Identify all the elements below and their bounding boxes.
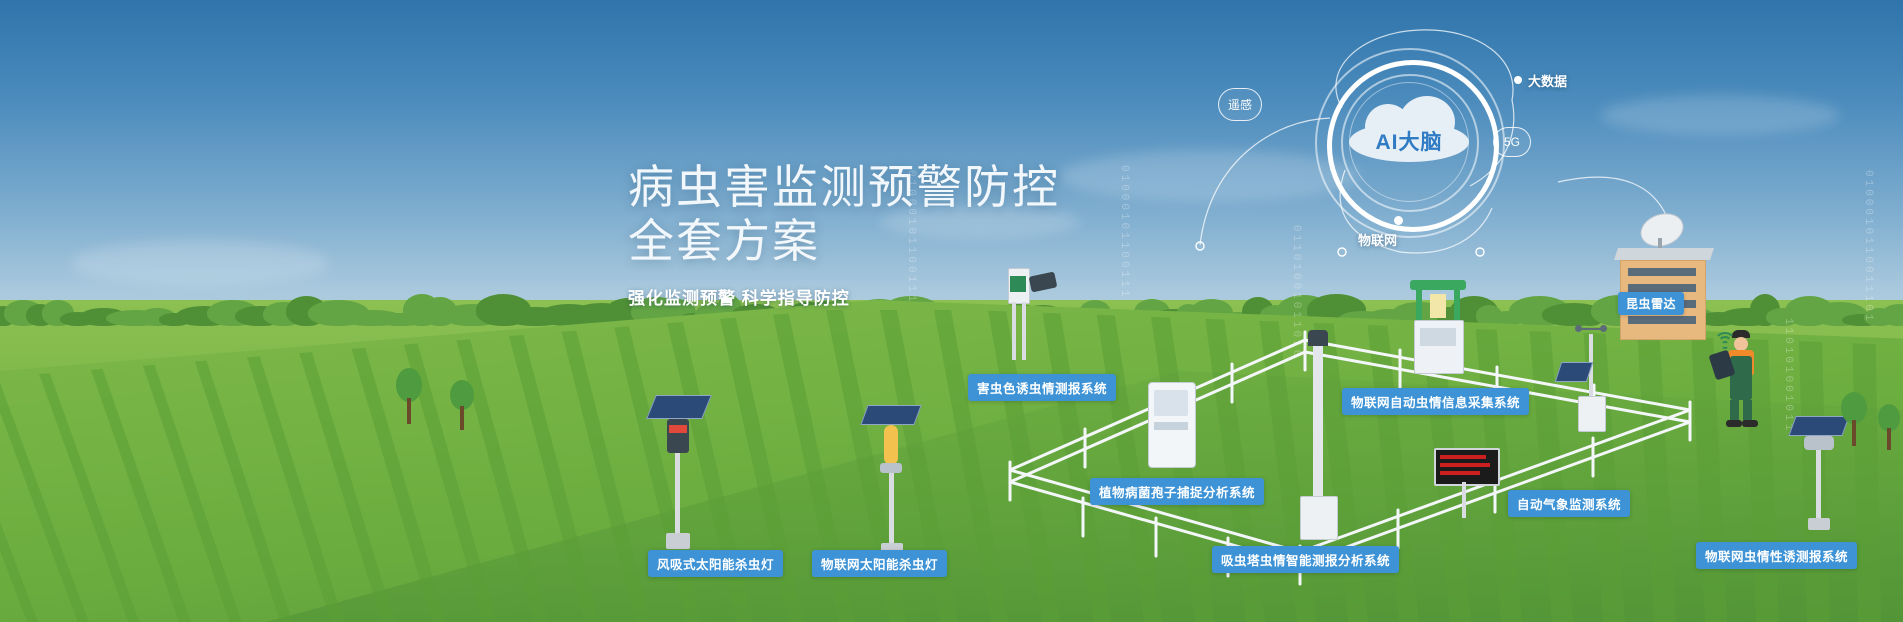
collector-strut (1416, 290, 1422, 320)
device-iot-pest-collector[interactable] (1400, 280, 1480, 390)
binary-decor: 0100010110011101 (1862, 170, 1874, 324)
label-iot-solar-lamp[interactable]: 物联网太阳能杀虫灯 (812, 550, 947, 577)
hub-node-big-data[interactable]: 大数据 (1528, 71, 1567, 90)
treeline-bush (1881, 304, 1903, 326)
label-pheromone-forecast[interactable]: 物联网虫情性诱测报系统 (1696, 542, 1857, 569)
cabinet-slot (1154, 422, 1188, 430)
hub-node-5g[interactable]: 5G (1493, 127, 1531, 157)
device-pole (1022, 302, 1026, 360)
label-insect-radar[interactable]: 昆虫雷达 (1618, 292, 1684, 315)
led-board-pole (1462, 482, 1466, 518)
crop-row (556, 310, 655, 622)
ai-brain-label: AI大脑 (1349, 126, 1469, 156)
crop-row (394, 310, 502, 622)
cloud-shape (1600, 95, 1840, 135)
device-weather-station[interactable] (1556, 326, 1636, 446)
crop-row (1204, 310, 1268, 622)
lamp-light (669, 425, 687, 433)
station-cabinet (1578, 396, 1606, 432)
lamp-collector (880, 463, 902, 473)
device-wind-suction-solar-lamp[interactable] (645, 395, 705, 555)
tower-cabinet (1300, 496, 1338, 540)
lure-color-plate (1010, 276, 1026, 292)
decor-tree (1876, 404, 1903, 452)
label-color-lure-forecast[interactable]: 害虫色诱虫情测报系统 (968, 374, 1116, 401)
device-suction-tower[interactable] (1296, 330, 1342, 550)
crop-row (286, 310, 400, 622)
cloud-shape (70, 240, 330, 286)
pheromone-trap (1804, 436, 1834, 450)
field-technician (1718, 330, 1764, 430)
led-display-board (1434, 448, 1500, 486)
technician-head (1734, 337, 1748, 351)
camera-unit (1029, 271, 1058, 292)
crop-row (502, 310, 604, 622)
cabinet-vent (1154, 390, 1188, 416)
radar-roof (1614, 248, 1714, 260)
device-color-lure-forecast[interactable] (990, 268, 1060, 368)
binary-decor: 01000101100111 (1118, 165, 1130, 299)
tower-column (1313, 346, 1323, 496)
collector-roof (1410, 280, 1466, 290)
ai-brain-hub: AI大脑 (1315, 48, 1505, 238)
wifi-icon (1714, 332, 1734, 348)
technician-overalls (1730, 356, 1752, 400)
crop-row (340, 310, 451, 622)
hero-title-line2: 全套方案 (628, 214, 1060, 268)
hub-node-remote-sensing[interactable]: 遥感 (1218, 88, 1262, 121)
station-solar-panel (1555, 362, 1593, 382)
hub-node-dot-iot (1394, 216, 1403, 225)
device-insect-radar[interactable] (1610, 232, 1720, 342)
decor-tree (1838, 392, 1870, 448)
decor-tree (447, 380, 477, 432)
device-iot-solar-lamp[interactable] (862, 405, 922, 555)
lamp-base (666, 533, 690, 549)
crop-row (1636, 310, 1677, 622)
illustration-canvas: 01000101100111 01000101100111 0110100101… (0, 0, 1903, 622)
device-base (1808, 518, 1830, 530)
device-pole (1012, 302, 1016, 360)
collector-panel (1420, 328, 1456, 346)
device-pole (1816, 450, 1821, 520)
solar-panel (646, 395, 712, 419)
device-spore-capture[interactable] (1148, 382, 1208, 474)
hero-title-line1: 病虫害监测预警防控 (628, 160, 1060, 214)
label-wind-suction-solar-lamp[interactable]: 风吸式太阳能杀虫灯 (648, 550, 783, 577)
lamp-pole (675, 453, 680, 535)
lamp-pole (889, 473, 894, 545)
label-weather-station[interactable]: 自动气象监测系统 (1508, 490, 1630, 517)
label-iot-pest-collector[interactable]: 物联网自动虫情信息采集系统 (1342, 388, 1529, 415)
label-spore-capture[interactable]: 植物病菌孢子捕捉分析系统 (1090, 478, 1264, 505)
cloud-icon: AI大脑 (1349, 100, 1469, 162)
solar-panel (860, 405, 921, 425)
label-suction-tower[interactable]: 吸虫塔虫情智能测报分析系统 (1212, 546, 1399, 573)
hub-node-iot[interactable]: 物联网 (1358, 230, 1397, 249)
hub-node-dot-bigdata (1514, 76, 1522, 84)
decor-tree (392, 368, 426, 426)
anemometer (1578, 326, 1604, 334)
tower-intake (1308, 330, 1328, 346)
collector-strut (1454, 290, 1460, 320)
lamp-tube (884, 425, 898, 465)
crop-row (448, 310, 553, 622)
collector-lamp (1430, 294, 1446, 318)
